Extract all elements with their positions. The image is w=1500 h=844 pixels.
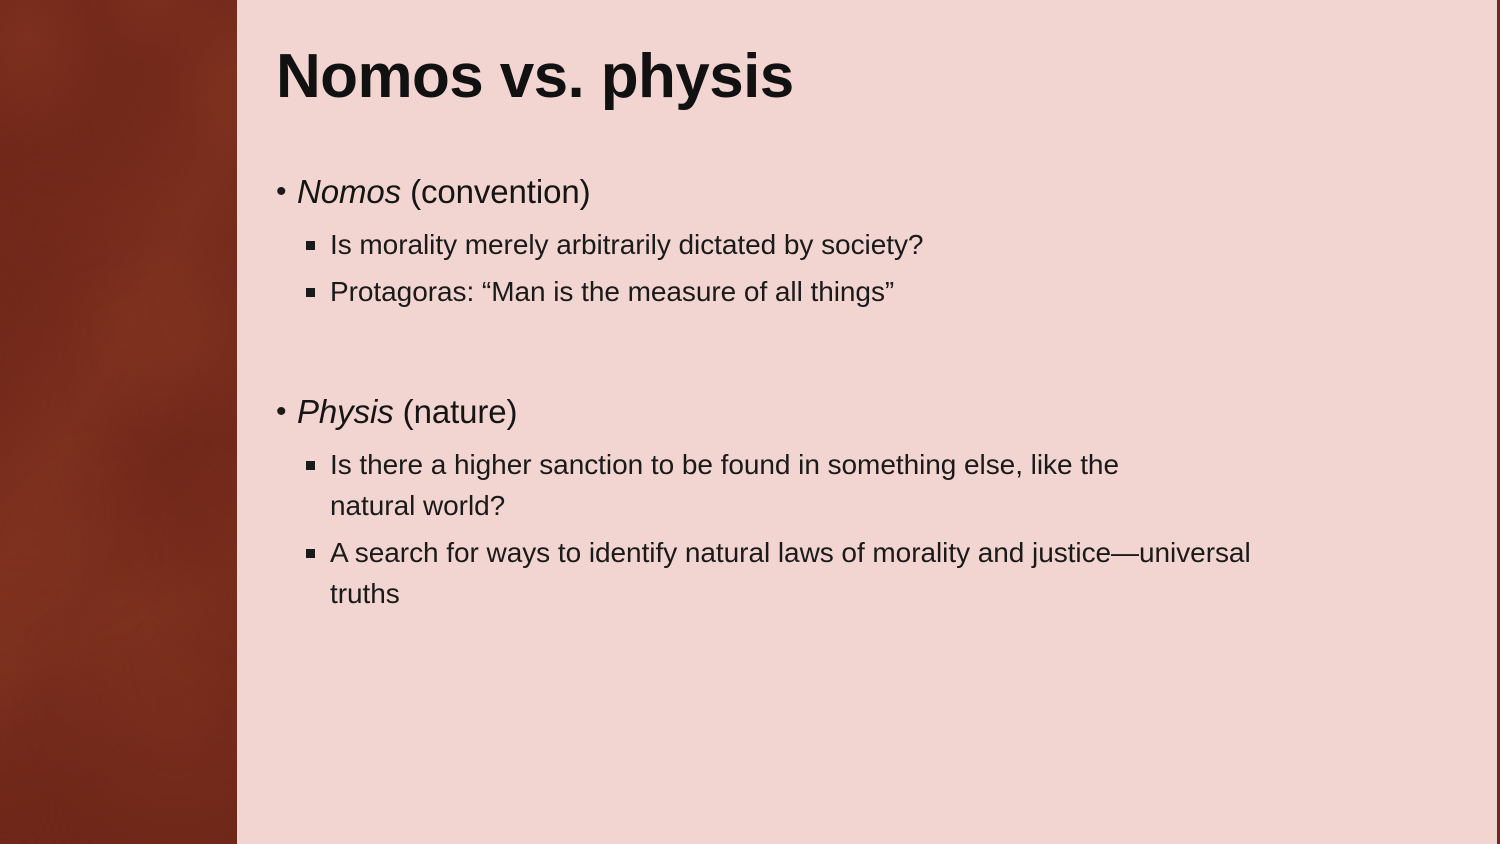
gloss-nomos: (convention) [401,173,590,210]
bullet-level1-physis: • Physis (nature) [267,390,1457,434]
decorative-side-band [0,0,237,844]
bullet-square-icon [267,224,330,250]
bullet-square-icon [267,271,330,297]
bullet-square-icon [267,532,330,558]
bullet-square-icon [267,444,330,470]
page-title: Nomos vs. physis [276,44,794,109]
presentation-slide: Nomos vs. physis • Nomos (convention) Is… [0,0,1500,844]
side-band-shading-overlay [0,0,237,844]
bullet-dot-icon: • [267,170,297,214]
bullet-level2-text: Is morality merely arbitrarily dictated … [330,224,923,265]
bullet-level2-item: Is there a higher sanction to be found i… [267,444,1457,526]
slide-body: • Nomos (convention) Is morality merely … [267,170,1457,620]
bullet-level1-text: Nomos (convention) [297,170,591,214]
bullet-level2-item: Protagoras: “Man is the measure of all t… [267,271,1457,312]
term-physis: Physis [297,393,394,430]
bullet-level2-text: A search for ways to identify natural la… [330,532,1265,614]
bullet-level2-item: Is morality merely arbitrarily dictated … [267,224,1457,265]
slide-content-area: Nomos vs. physis • Nomos (convention) Is… [237,0,1497,844]
bullet-level1-nomos: • Nomos (convention) [267,170,1457,214]
bullet-level1-text: Physis (nature) [297,390,517,434]
bullet-level2-item: A search for ways to identify natural la… [267,532,1457,614]
bullet-level2-text: Protagoras: “Man is the measure of all t… [330,271,894,312]
section-spacer [267,318,1457,390]
bullet-level2-text: Is there a higher sanction to be found i… [330,444,1130,526]
gloss-physis: (nature) [394,393,518,430]
bullet-dot-icon: • [267,390,297,434]
term-nomos: Nomos [297,173,401,210]
